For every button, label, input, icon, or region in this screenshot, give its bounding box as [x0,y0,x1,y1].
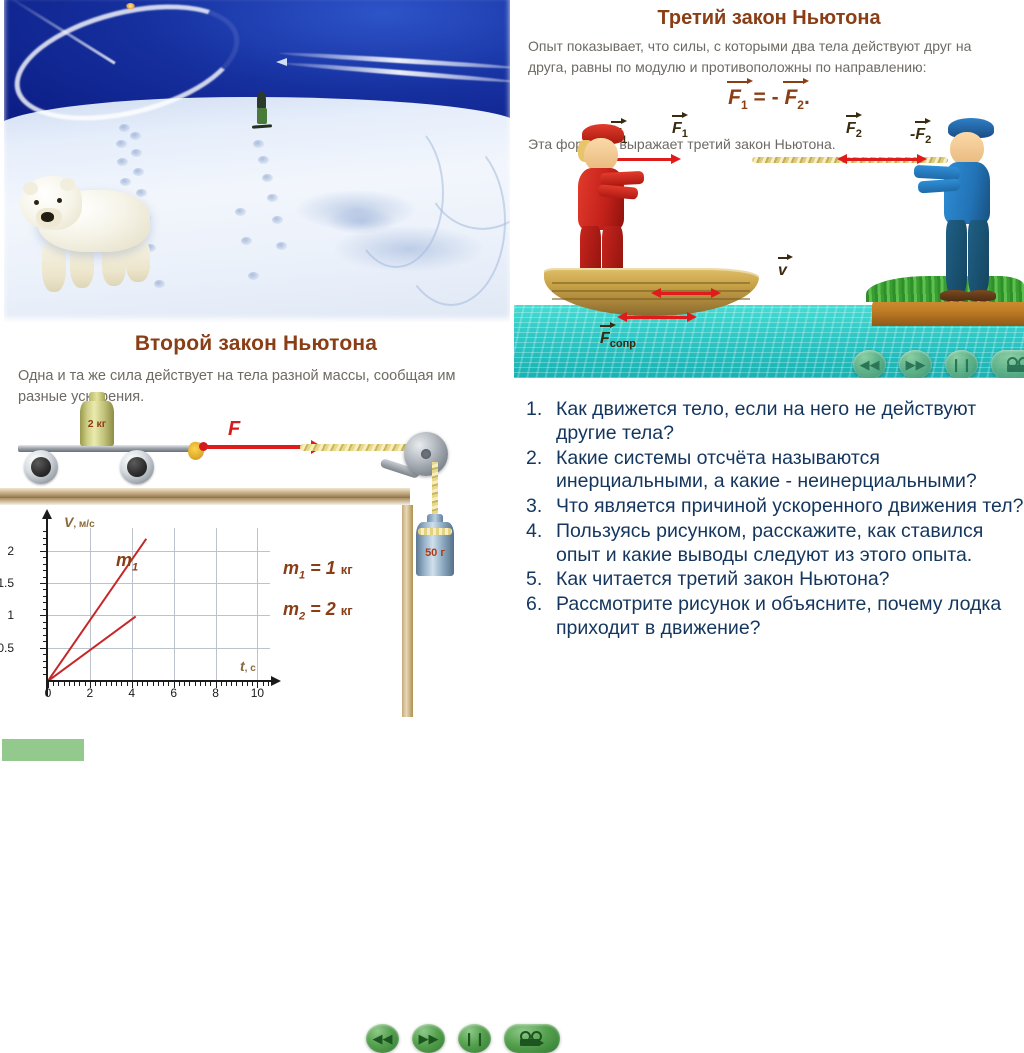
mass2-symbol: m [283,599,299,619]
projector-button[interactable] [504,1024,560,1053]
table-edge [0,498,410,505]
chart-x-minor-tick [90,682,91,686]
question-item: 1.Как движется тело, если на него не дей… [518,398,1024,446]
chart-x-minor-tick [163,682,164,686]
chart-x-minor-tick [221,682,222,686]
skier-legs [257,108,267,124]
cart-weight-label: 2 кг [78,418,116,430]
mass1-value: 1 [326,558,336,578]
question-text: Как движется тело, если на него не дейст… [556,398,1024,446]
chart-y-minor-tick [43,628,47,629]
questions-list: 1.Как движется тело, если на него не дей… [518,398,1024,764]
question-text: Что является причиной ускоренного движен… [556,495,1024,519]
chart-x-minor-tick [268,682,269,686]
rewind-icon: ◀◀ [860,358,880,371]
second-law-panel: Второй закон Ньютона Одна и та же сила д… [0,322,512,767]
chart-x-minor-tick [121,682,122,686]
formula-f1-symbol: F [728,86,741,109]
force-arrow-f2-pair [846,158,918,161]
chart-x-tickmark [48,682,49,688]
question-number: 1. [518,398,556,422]
formula-period: . [804,86,810,109]
shoe [966,290,996,301]
chart-x-minor-tick [184,682,185,686]
mass2-value: 2 [326,599,336,619]
table-leg-post [402,505,413,717]
question-item: 5.Как читается третий закон Ньютона? [518,568,1024,592]
chart-x-minor-tick [69,682,70,686]
projector-icon [519,1031,545,1046]
boat-plank [552,298,750,300]
mass2-equals: = [310,599,321,619]
chart-x-minor-tick [53,682,54,686]
boat-plank [552,282,750,284]
chart-x-minor-tick [100,682,101,686]
mass1-equals: = [310,558,321,578]
chart-gridline-horizontal [48,615,270,616]
pulley-wheel [404,432,448,476]
f1-symbol: F [672,120,682,138]
chart-x-tick-label: 4 [128,686,135,700]
chart-x-minor-tick [142,682,143,686]
rewind-button[interactable]: ◀◀ [366,1024,399,1053]
chart-plot-area [48,528,270,680]
chart-x-minor-tick [205,682,206,686]
chart-y-minor-tick [43,622,47,623]
question-item: 3.Что является причиной ускоренного движ… [518,495,1024,519]
second-law-title: Второй закон Ньютона [0,332,512,356]
chart-x-minor-tick [158,682,159,686]
mass2-equation: m2 = 2 кг [283,599,353,623]
question-number: 6. [518,593,556,617]
boy-in-blue [918,118,1014,310]
chart-x-minor-tick [85,682,86,686]
chart-series-annotation: m1 [116,550,138,574]
f2-index: 2 [856,128,862,140]
snow-spray [326,208,396,234]
chart-gridline-horizontal [48,648,270,649]
third-law-paragraph-1: Опыт показывает, что силы, с которыми дв… [528,36,998,78]
hanging-weight-label: 50 г [414,547,456,559]
formula-equals: = [754,86,766,109]
chart-x-minor-tick [231,682,232,686]
chart-x-minor-tick [132,682,133,686]
pause-button[interactable]: ❙❙ [458,1024,491,1053]
chart-y-minor-tick [43,609,47,610]
question-text: Как читается третий закон Ньютона? [556,568,1024,592]
cart-weight-2kg: 2 кг [78,392,116,446]
third-law-formula: F1 = - F2. [514,86,1024,112]
chart-y-minor-tick [43,635,47,636]
question-number: 5. [518,568,556,592]
mass2-unit: кг [341,603,353,618]
chart-x-minor-tick [79,682,80,686]
chart-y-tick-label: 1 [7,608,14,622]
chart-x-minor-tick [242,682,243,686]
chart-x-tick-label: 6 [170,686,177,700]
chart-x-minor-tick [247,682,248,686]
velocity-time-chart: V, м/с t, с m1 0.511.520246810 [18,518,280,708]
chart-x-minor-tick [216,682,217,686]
formula-f2: F2 [784,86,804,112]
chart-y-minor-tick [43,661,47,662]
arm-front [914,165,961,180]
hanging-weight-50g: 50 г [414,514,456,576]
media-controls-bottom[interactable]: ◀◀ ▶▶ ❙❙ [366,1024,560,1053]
forward-icon: ▶▶ [906,358,926,371]
chart-x-minor-tick [74,682,75,686]
chart-y-minor-tick [43,596,47,597]
rewind-icon: ◀◀ [373,1032,393,1045]
chart-x-minor-tick [116,682,117,686]
f1-index: 1 [682,128,688,140]
question-item: 2.Какие системы отсчёта называются инерц… [518,447,1024,495]
third-law-panel: Третий закон Ньютона Опыт показывает, чт… [514,0,1024,378]
chart-y-minor-tick [43,667,47,668]
chart-x-minor-tick [200,682,201,686]
chart-y-minor-tick [43,583,47,584]
chart-y-minor-tick [43,648,47,649]
chart-x-minor-tick [153,682,154,686]
aircraft-flare [126,3,135,9]
rope-vertical [432,462,438,518]
chart-xlabel: t, с [240,658,256,674]
leg-back [946,220,967,294]
resistance-index: сопр [610,338,636,350]
chart-y-tick-label: 2 [7,544,14,558]
chart-x-minor-tick [263,682,264,686]
mass1-index: 1 [299,570,305,582]
mass2-index: 2 [299,611,305,623]
cart-wheel [24,450,58,484]
label-f1: F1 [672,120,688,140]
boat-velocity-arrow [660,292,712,295]
chart-x-minor-tick [210,682,211,686]
chart-x-minor-tick [58,682,59,686]
bear-eye [57,198,62,203]
projector-icon [1006,357,1024,372]
formula-f1: F1 [728,86,748,112]
chart-gridline-horizontal [48,583,270,584]
chart-x-minor-tick [137,682,138,686]
pause-icon: ❙❙ [464,1032,486,1045]
formula-f2-symbol: F [784,86,797,109]
jet-aircraft-icon [276,58,287,66]
question-text: Какие системы отсчёта называются инерциа… [556,447,1024,495]
chart-x-minor-tick [106,682,107,686]
chart-series-line-m2 [47,616,136,683]
table-surface [0,488,410,498]
velocity-symbol: v [778,262,787,280]
bear-head [20,176,82,230]
chart-x-minor-tick [257,682,258,686]
cart-wheel [120,450,154,484]
question-item: 6.Рассмотрите рисунок и объясните, почем… [518,593,1024,641]
mass1-equation: m1 = 1 кг [283,558,353,582]
chart-x-minor-tick [168,682,169,686]
label-f2: F2 [846,120,862,140]
leg-front [968,220,989,294]
chart-x-minor-tick [95,682,96,686]
chart-y-minor-tick [43,615,47,616]
label-resistance-force: Fсопр [600,330,636,350]
bear-ear [60,178,75,191]
chart-y-minor-tick [43,577,47,578]
slide-canvas: Второй закон Ньютона Одна и та же сила д… [0,0,1024,767]
mass1-symbol: m [283,558,299,578]
bear-ear [23,182,38,195]
media-controls-top[interactable]: ◀◀ ▶▶ ❙❙ [853,350,1024,378]
arm-front [600,171,645,186]
chart-x-minor-tick [195,682,196,686]
forward-button[interactable]: ▶▶ [412,1024,445,1053]
chart-y-minor-tick [43,654,47,655]
projector-button[interactable] [991,350,1024,378]
polar-bear-snow-photo [4,0,510,322]
forward-button[interactable]: ▶▶ [899,350,932,378]
question-number: 4. [518,520,556,544]
head [584,138,618,172]
chart-y-minor-tick [43,641,47,642]
chart-x-minor-tick [111,682,112,686]
chart-y-minor-tick [43,564,47,565]
chart-gridline-horizontal [48,551,270,552]
chart-ylabel: V, м/с [64,514,95,530]
question-number: 3. [518,495,556,519]
chart-x-minor-tick [147,682,148,686]
chart-x-minor-tick [189,682,190,686]
chart-y-minor-tick [43,531,47,532]
force-label: F [228,418,240,441]
bear-nose [41,212,54,222]
chart-x-minor-tick [64,682,65,686]
chart-x-tick-label: 0 [45,686,52,700]
question-item: 4.Пользуясь рисунком, расскажите, как ст… [518,520,1024,568]
chart-x-tick-label: 2 [87,686,94,700]
bear-eye [34,200,39,205]
decorative-green-chip [2,739,84,761]
rope-horizontal [300,444,418,451]
rewind-button[interactable]: ◀◀ [853,350,886,378]
force-vector-arrow [206,445,312,449]
head [950,132,984,166]
chart-y-minor-tick [43,589,47,590]
weight-rope-tie [418,528,452,535]
pause-button[interactable]: ❙❙ [945,350,978,378]
third-law-title: Третий закон Ньютона [514,7,1024,30]
chart-x-minor-tick [127,682,128,686]
chart-y-minor-tick [43,544,47,545]
chart-y-minor-tick [43,570,47,571]
chart-x-tick-label: 10 [251,686,264,700]
formula-f2-index: 2 [797,98,804,112]
question-number: 2. [518,447,556,471]
chart-y-minor-tick [43,602,47,603]
f2-symbol: F [846,120,856,138]
mass1-unit: кг [341,562,353,577]
question-text: Пользуясь рисунком, расскажите, как став… [556,520,1024,568]
chart-x-minor-tick [174,682,175,686]
chart-y-minor-tick [43,674,47,675]
resistance-force-arrow [626,316,688,319]
chart-y-minor-tick [43,538,47,539]
formula-minus: - [772,86,779,109]
polar-bear [20,168,154,298]
resistance-symbol: F [600,330,610,348]
chart-y-tick-label: 0.5 [0,641,14,655]
formula-f1-index: 1 [741,98,748,112]
label-velocity: v [778,262,787,280]
chart-y-tick-label: 1.5 [0,576,14,590]
pause-icon: ❙❙ [951,358,973,371]
chart-y-minor-tick [43,557,47,558]
chart-x-minor-tick [179,682,180,686]
chart-x-minor-tick [226,682,227,686]
chart-x-tick-label: 8 [212,686,219,700]
forward-icon: ▶▶ [419,1032,439,1045]
chart-y-minor-tick [43,551,47,552]
question-text: Рассмотрите рисунок и объясните, почему … [556,593,1024,641]
chart-x-minor-tick [252,682,253,686]
chart-x-minor-tick [236,682,237,686]
